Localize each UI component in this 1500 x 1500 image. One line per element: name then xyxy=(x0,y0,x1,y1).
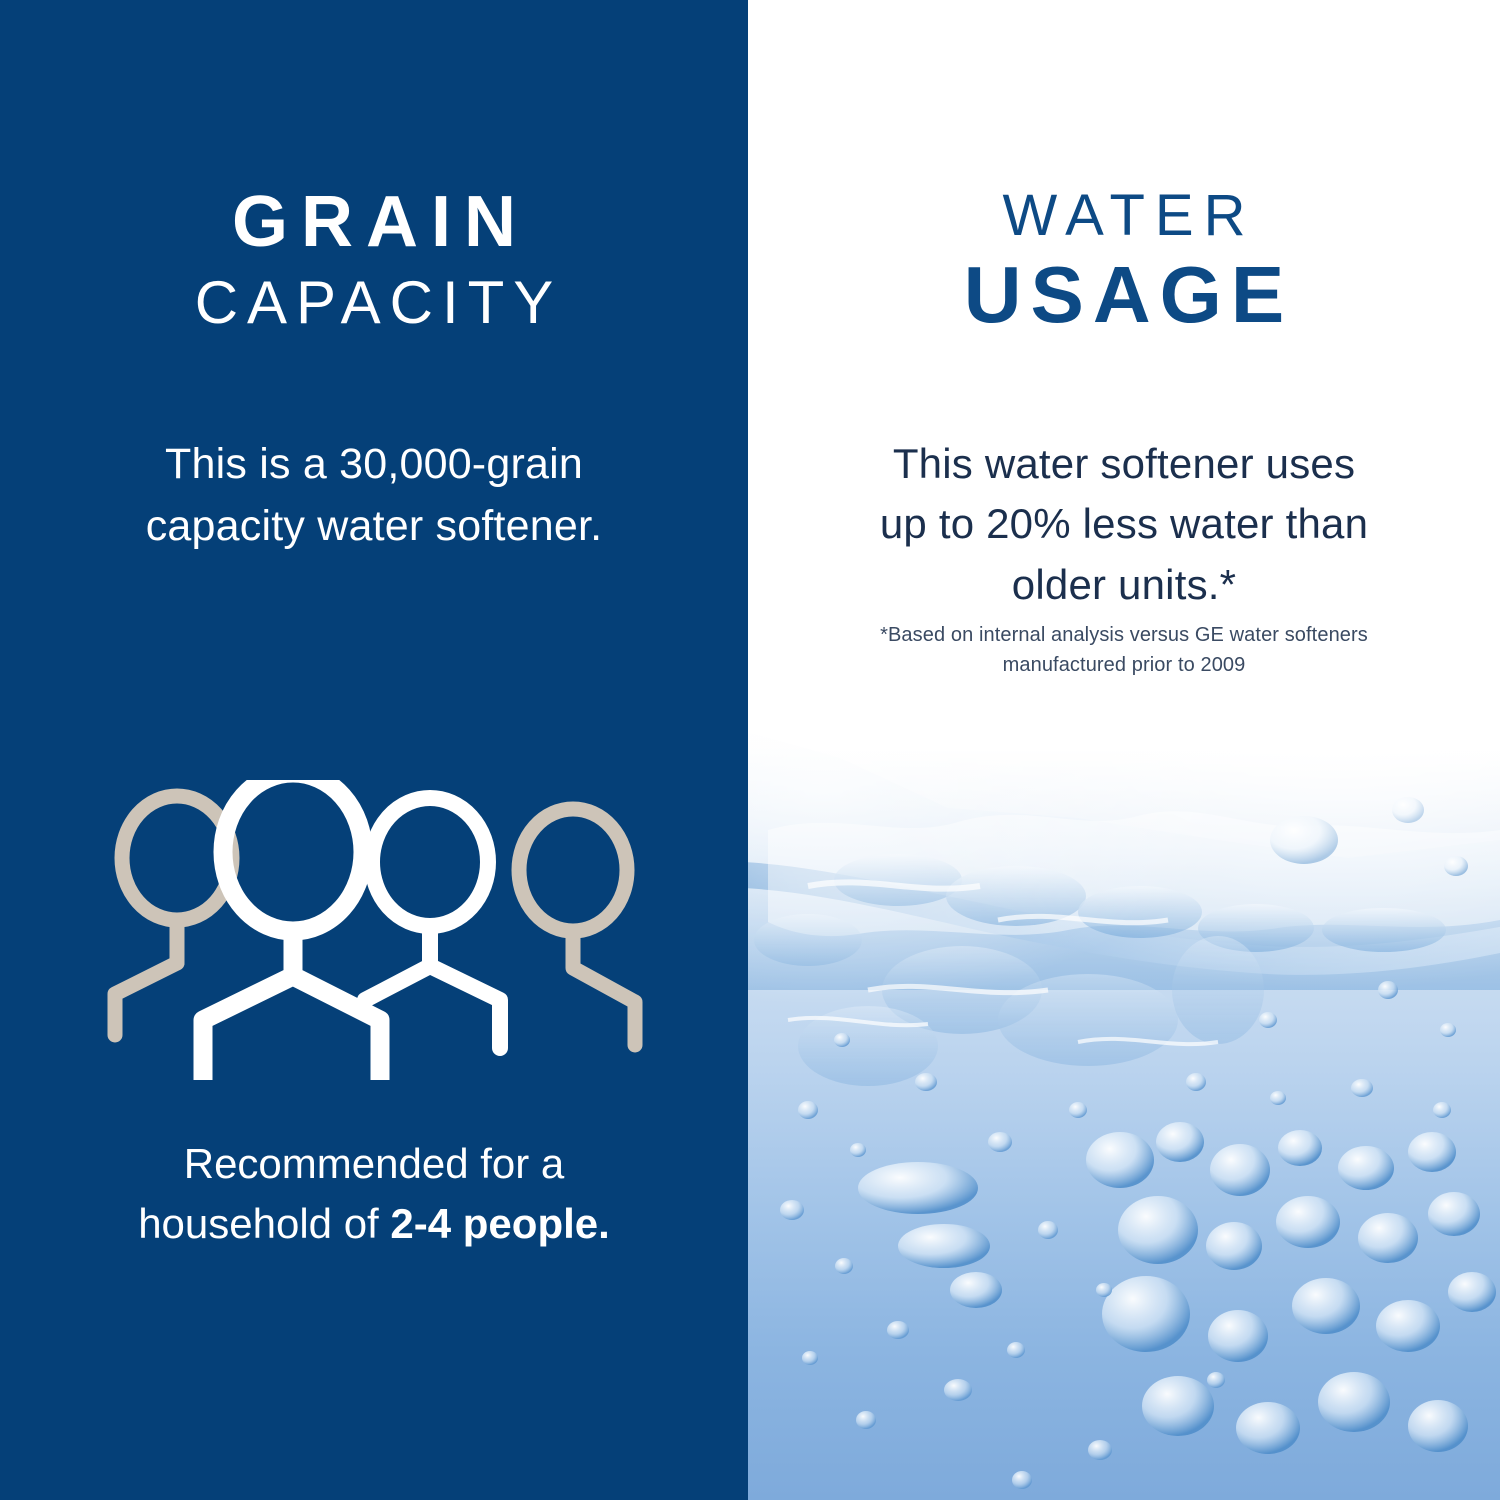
heading-line-capacity: CAPACITY xyxy=(9,258,748,348)
water-top-fade xyxy=(748,690,1500,1500)
person-outline-2 xyxy=(203,780,380,1080)
water-usage-heading: WATER USAGE xyxy=(748,186,1500,343)
water-splash-bubbles-photo xyxy=(748,690,1500,1500)
grain-capacity-heading: GRAIN CAPACITY xyxy=(0,186,748,348)
grain-capacity-body: This is a 30,000-grain capacity water so… xyxy=(60,434,688,558)
grain-body-line-2: capacity water softener. xyxy=(60,496,688,558)
grain-body-line-1: This is a 30,000-grain xyxy=(60,434,688,496)
caption-line-2: household of 2-4 people. xyxy=(50,1194,698,1254)
water-usage-body: This water softener uses up to 20% less … xyxy=(818,434,1430,615)
person-outline-4 xyxy=(519,809,635,1045)
water-body-line-2: up to 20% less water than xyxy=(818,494,1430,554)
heading-line-usage: USAGE xyxy=(757,247,1500,343)
grain-capacity-panel: GRAIN CAPACITY This is a 30,000-grain ca… xyxy=(0,0,748,1500)
footnote-line-2: manufactured prior to 2009 xyxy=(828,650,1420,680)
caption-line-2-prefix: household of xyxy=(138,1200,390,1247)
person-outline-1 xyxy=(115,796,232,1035)
water-usage-panel: WATER USAGE This water softener uses up … xyxy=(748,0,1500,1500)
caption-line-2-emphasis: 2-4 people. xyxy=(390,1200,609,1247)
comparison-infographic: GRAIN CAPACITY This is a 30,000-grain ca… xyxy=(0,0,1500,1500)
water-body-line-3: older units.* xyxy=(818,555,1430,615)
caption-line-1: Recommended for a xyxy=(50,1134,698,1194)
household-recommendation-caption: Recommended for a household of 2-4 peopl… xyxy=(50,1134,698,1253)
heading-line-grain: GRAIN xyxy=(13,186,748,258)
footnote-line-1: *Based on internal analysis versus GE wa… xyxy=(828,620,1420,650)
water-body-line-1: This water softener uses xyxy=(818,434,1430,494)
four-people-icon xyxy=(75,780,675,1080)
heading-line-water: WATER xyxy=(758,186,1500,247)
person-outline-3 xyxy=(365,798,500,1048)
water-usage-footnote: *Based on internal analysis versus GE wa… xyxy=(828,620,1420,680)
